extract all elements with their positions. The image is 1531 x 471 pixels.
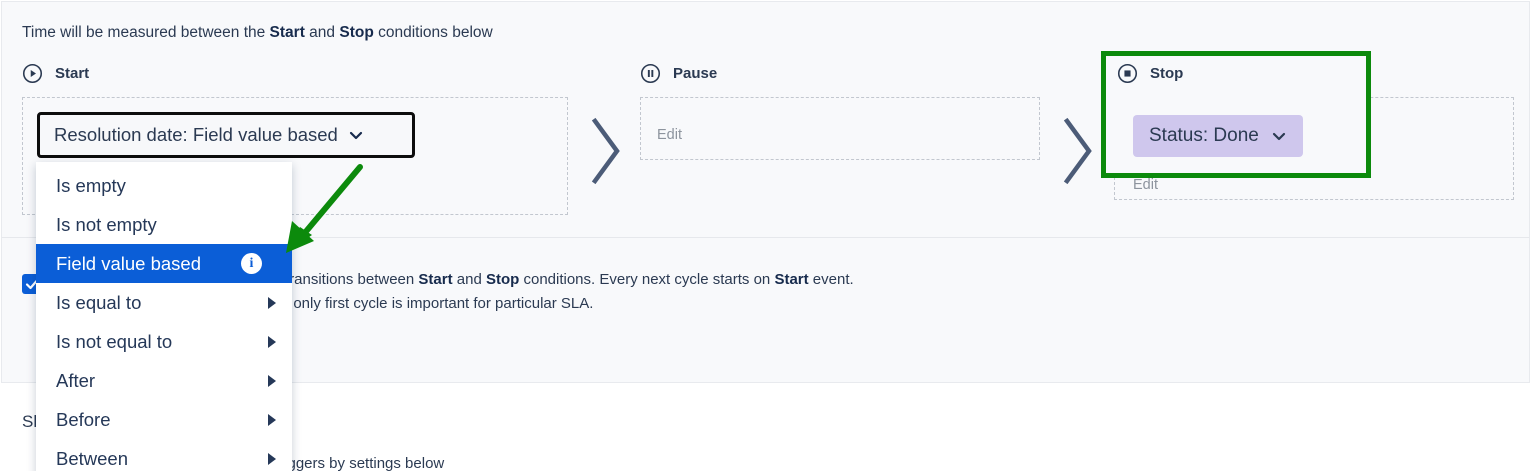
chevron-right-icon (266, 374, 278, 388)
cycle-line1-d: event. (809, 271, 854, 288)
stage-label-stop: Stop (1150, 65, 1183, 82)
menu-item-label: Before (56, 409, 111, 431)
intro-prefix: Time will be measured between the (22, 24, 270, 41)
intro-text: Time will be measured between the Start … (22, 24, 493, 42)
menu-item-label: Is equal to (56, 292, 141, 314)
chevron-down-icon (1271, 128, 1287, 144)
stop-edit-label[interactable]: Edit (1133, 177, 1158, 193)
intro-stop-bold: Stop (339, 24, 373, 41)
chevron-right-icon (266, 296, 278, 310)
stop-circle-icon (1117, 63, 1138, 84)
intro-suffix: conditions below (374, 24, 493, 41)
sla-section-heading: Sl (22, 412, 37, 432)
menu-item-label: Between (56, 448, 128, 470)
menu-item-before[interactable]: Before (36, 400, 292, 439)
menu-item-is-not-empty[interactable]: Is not empty (36, 205, 292, 244)
chevron-right-icon (266, 335, 278, 349)
sla-time-conditions-screen: Time will be measured between the Start … (0, 0, 1531, 471)
cycle-line1-start: Start (418, 271, 452, 288)
cycle-line1-b: and (453, 271, 486, 288)
stage-heading-start: Start (22, 63, 89, 84)
info-icon[interactable]: i (241, 253, 262, 274)
cycle-line1-c: conditions. Every next cycle starts on (519, 271, 774, 288)
cycle-line1-a: transitions between (285, 271, 418, 288)
intro-middle: and (305, 24, 339, 41)
sla-section-subtext: triggers by settings below (275, 455, 444, 471)
start-condition-value: Resolution date: Field value based (54, 124, 338, 146)
menu-item-is-empty[interactable]: Is empty (36, 166, 292, 205)
menu-item-label: Is not empty (56, 214, 157, 236)
stage-label-start: Start (55, 65, 89, 82)
menu-item-field-value-based[interactable]: Field value based i (36, 244, 292, 283)
menu-item-is-not-equal-to[interactable]: Is not equal to (36, 322, 292, 361)
menu-item-between[interactable]: Between (36, 439, 292, 471)
chevron-right-icon (266, 413, 278, 427)
pointer-arrow-annotation (270, 155, 380, 270)
menu-item-label: Is not equal to (56, 331, 172, 353)
chevron-down-icon (348, 127, 364, 143)
cycle-line1-start2: Start (774, 271, 808, 288)
stage-label-pause: Pause (673, 65, 717, 82)
pause-circle-icon (640, 63, 661, 84)
pause-dropzone[interactable] (640, 97, 1040, 160)
stage-heading-pause: Pause (640, 63, 717, 84)
pause-edit-label[interactable]: Edit (657, 127, 682, 143)
intro-start-bold: Start (270, 24, 305, 41)
play-circle-icon (22, 63, 43, 84)
menu-item-label: Is empty (56, 175, 126, 197)
chevron-right-icon (266, 452, 278, 466)
menu-item-is-equal-to[interactable]: Is equal to (36, 283, 292, 322)
stop-status-chip-label: Status: Done (1149, 125, 1259, 147)
menu-item-label: Field value based (56, 253, 201, 275)
stage-heading-stop: Stop (1117, 63, 1183, 84)
flow-chevron-1 (588, 115, 624, 192)
menu-item-label: After (56, 370, 95, 392)
cycle-line1-stop: Stop (486, 271, 519, 288)
menu-item-after[interactable]: After (36, 361, 292, 400)
flow-chevron-2 (1060, 115, 1096, 192)
start-condition-select[interactable]: Resolution date: Field value based (37, 112, 415, 158)
start-condition-dropdown-menu[interactable]: Is empty Is not empty Field value based … (36, 162, 292, 471)
stop-status-chip[interactable]: Status: Done (1133, 115, 1303, 157)
